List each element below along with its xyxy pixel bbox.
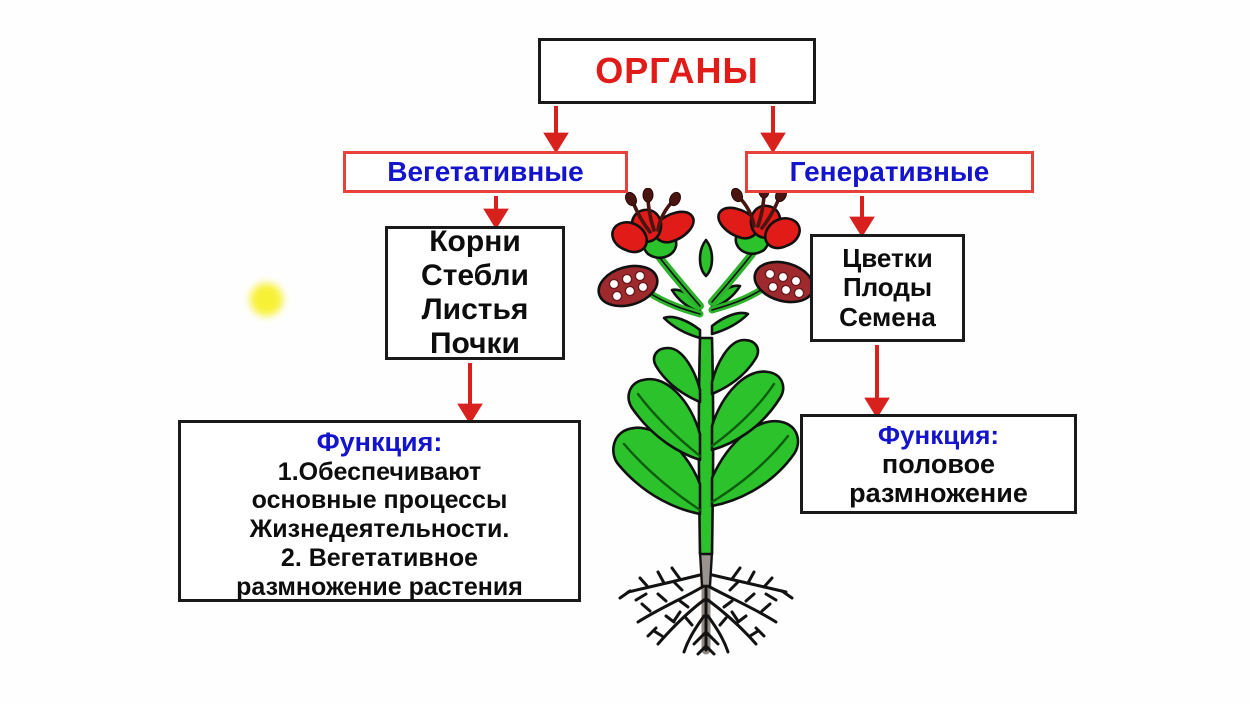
root-collar — [700, 552, 712, 586]
fruit-pod-left — [594, 259, 662, 312]
apical-bud — [700, 240, 712, 276]
category-generative-label: Генеративные — [790, 157, 990, 187]
vegetative-function-line-4: 2. Вегетативное — [281, 544, 478, 573]
category-vegetative[interactable]: Вегетативные — [343, 151, 628, 193]
fruit-pod-right — [750, 255, 818, 308]
root-node-organy[interactable]: ОРГАНЫ — [538, 38, 816, 104]
vegetative-function-box[interactable]: Функция: 1.Обеспечивают основные процесс… — [178, 420, 581, 602]
flower-left — [612, 188, 693, 258]
organ-item-pochki: Почки — [430, 327, 520, 361]
organ-item-semena: Семена — [839, 303, 936, 332]
flowering-plant-illustration — [588, 188, 828, 656]
vegetative-function-line-2: основные процессы — [252, 486, 508, 515]
vegetative-function-heading: Функция: — [317, 428, 443, 457]
generative-organs-box[interactable]: Цветки Плоды Семена — [810, 234, 965, 342]
vegetative-function-line-5: размножение растения — [236, 573, 523, 602]
organ-item-korni: Корни — [429, 225, 521, 259]
organ-item-tsvetki: Цветки — [842, 244, 932, 273]
category-generative[interactable]: Генеративные — [745, 151, 1034, 193]
organ-item-plody: Плоды — [843, 273, 932, 302]
generative-function-line-1: половое — [882, 450, 995, 480]
diagram-canvas: ОРГАНЫ Вегетативные Генеративные Корни С… — [0, 0, 1250, 704]
vegetative-organs-box[interactable]: Корни Стебли Листья Почки — [385, 226, 565, 360]
generative-function-heading: Функция: — [878, 422, 999, 450]
root-node-label: ОРГАНЫ — [595, 52, 758, 90]
category-vegetative-label: Вегетативные — [387, 157, 583, 187]
generative-function-box[interactable]: Функция: половое размножение — [800, 414, 1077, 514]
flower-right — [718, 188, 799, 254]
yellow-dot-decoration — [250, 283, 283, 316]
organ-item-stebli: Стебли — [421, 259, 529, 293]
generative-function-line-2: размножение — [849, 479, 1028, 509]
stem-leaflets — [664, 286, 748, 338]
organ-item-listya: Листья — [422, 293, 529, 327]
vegetative-function-line-3: Жизнедеятельности. — [250, 515, 510, 544]
vegetative-function-line-1: 1.Обеспечивают — [278, 458, 481, 487]
